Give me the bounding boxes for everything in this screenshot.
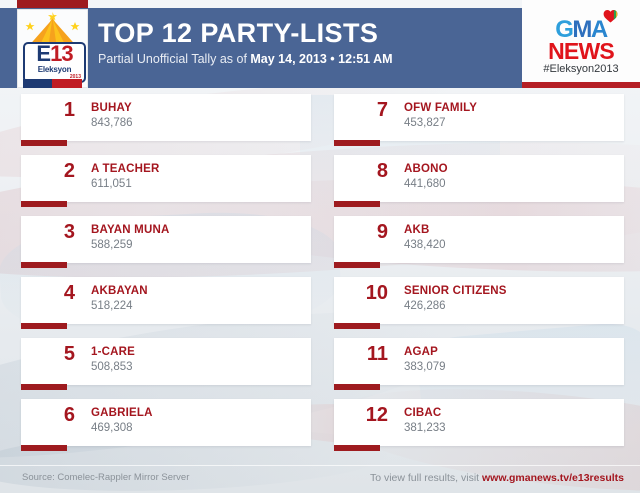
eleksyon-logo: E13 Eleksyon 2013: [17, 9, 88, 88]
table-row[interactable]: 12 CIBAC 381,233: [334, 399, 624, 446]
row-rank: 9: [342, 220, 388, 244]
row-vote-count: 438,420: [404, 238, 446, 252]
eleksyon-logo-plate: E13 Eleksyon 2013: [23, 42, 86, 83]
row-party-name: BAYAN MUNA: [91, 223, 169, 237]
logo-flag-red: [52, 79, 82, 88]
row-rank: 3: [29, 220, 75, 244]
row-vote-count: 426,286: [404, 299, 446, 313]
row-party-name: A TEACHER: [91, 162, 159, 176]
row-vote-count: 441,680: [404, 177, 446, 191]
row-vote-count: 508,853: [91, 360, 133, 374]
infographic-screen: E13 Eleksyon 2013 TOP 12 PARTY-LISTS Par…: [0, 0, 640, 493]
row-rank: 7: [342, 98, 388, 122]
row-vote-count: 381,233: [404, 421, 446, 435]
table-row[interactable]: 3 BAYAN MUNA 588,259: [21, 216, 311, 263]
table-row[interactable]: 8 ABONO 441,680: [334, 155, 624, 202]
gma-hashtag: #Eleksyon2013: [522, 63, 640, 75]
footer-cta-prefix: To view full results, visit: [370, 472, 482, 484]
row-party-name: 1-CARE: [91, 345, 135, 359]
row-rank: 5: [29, 342, 75, 366]
row-accent-bar: [334, 262, 380, 268]
table-row[interactable]: 2 A TEACHER 611,051: [21, 155, 311, 202]
row-vote-count: 611,051: [91, 177, 132, 191]
logo-letter-e: E: [36, 42, 50, 66]
row-party-name: AGAP: [404, 345, 438, 359]
row-party-name: CIBAC: [404, 406, 441, 420]
row-party-name: AKBAYAN: [91, 284, 148, 298]
footer-cta: To view full results, visit www.gmanews.…: [370, 472, 624, 484]
table-row[interactable]: 10 SENIOR CITIZENS 426,286: [334, 277, 624, 324]
row-vote-count: 843,786: [91, 116, 133, 130]
subtitle-prefix: Partial Unofficial Tally as of: [98, 52, 250, 66]
row-vote-count: 469,308: [91, 421, 133, 435]
eleksyon-wordmark: Eleksyon: [25, 65, 84, 74]
row-accent-bar: [334, 445, 380, 451]
row-vote-count: 518,224: [91, 299, 133, 313]
table-row[interactable]: 6 GABRIELA 469,308: [21, 399, 311, 446]
row-vote-count: 588,259: [91, 238, 133, 252]
row-party-name: BUHAY: [91, 101, 132, 115]
gma-news-wordmark: NEWS: [522, 39, 640, 63]
page-footer: Source: Comelec-Rappler Mirror Server To…: [0, 465, 640, 493]
row-accent-bar: [334, 323, 380, 329]
logo-flag-blue: [23, 79, 52, 88]
results-grid: 1 BUHAY 843,786 2 A TEACHER 611,051 3 BA…: [0, 94, 640, 464]
header-red-rule: [522, 82, 640, 88]
row-accent-bar: [21, 262, 67, 268]
source-note: Source: Comelec-Rappler Mirror Server: [22, 472, 189, 483]
row-party-name: SENIOR CITIZENS: [404, 284, 507, 298]
footer-link[interactable]: www.gmanews.tv/e13results: [482, 472, 624, 484]
row-party-name: OFW FAMILY: [404, 101, 477, 115]
row-rank: 1: [29, 98, 75, 122]
row-accent-bar: [21, 384, 67, 390]
table-row[interactable]: 9 AKB 438,420: [334, 216, 624, 263]
table-row[interactable]: 1 BUHAY 843,786: [21, 94, 311, 141]
row-rank: 6: [29, 403, 75, 427]
results-column-left: 1 BUHAY 843,786 2 A TEACHER 611,051 3 BA…: [21, 94, 311, 460]
row-vote-count: 453,827: [404, 116, 446, 130]
page-subtitle: Partial Unofficial Tally as of May 14, 2…: [98, 50, 393, 68]
row-party-name: AKB: [404, 223, 430, 237]
row-rank: 4: [29, 281, 75, 305]
table-row[interactable]: 5 1-CARE 508,853: [21, 338, 311, 385]
table-row[interactable]: 7 OFW FAMILY 453,827: [334, 94, 624, 141]
logo-number-13: 13: [50, 42, 72, 66]
row-party-name: ABONO: [404, 162, 448, 176]
row-rank: 11: [342, 342, 388, 366]
row-accent-bar: [21, 140, 67, 146]
row-rank: 8: [342, 159, 388, 183]
gma-news-logo: GMA NEWS #Eleksyon2013: [522, 6, 640, 82]
header-text-block: TOP 12 PARTY-LISTS Partial Unofficial Ta…: [98, 18, 393, 68]
row-accent-bar: [334, 140, 380, 146]
eleksyon-logo-mark: E13: [25, 42, 84, 67]
row-rank: 10: [342, 281, 388, 305]
table-row[interactable]: 4 AKBAYAN 518,224: [21, 277, 311, 324]
row-rank: 12: [342, 403, 388, 427]
row-accent-bar: [21, 323, 67, 329]
logo-flag-bar: [23, 79, 82, 88]
results-column-right: 7 OFW FAMILY 453,827 8 ABONO 441,680 9 A…: [334, 94, 624, 460]
row-vote-count: 383,079: [404, 360, 446, 374]
row-party-name: GABRIELA: [91, 406, 153, 420]
page-title: TOP 12 PARTY-LISTS: [98, 18, 393, 48]
row-rank: 2: [29, 159, 75, 183]
page-header: E13 Eleksyon 2013 TOP 12 PARTY-LISTS Par…: [0, 0, 640, 88]
subtitle-timestamp: May 14, 2013 • 12:51 AM: [250, 52, 392, 66]
row-accent-bar: [334, 201, 380, 207]
row-accent-bar: [21, 445, 67, 451]
row-accent-bar: [21, 201, 67, 207]
table-row[interactable]: 11 AGAP 383,079: [334, 338, 624, 385]
row-accent-bar: [334, 384, 380, 390]
footer-divider: [0, 465, 640, 466]
